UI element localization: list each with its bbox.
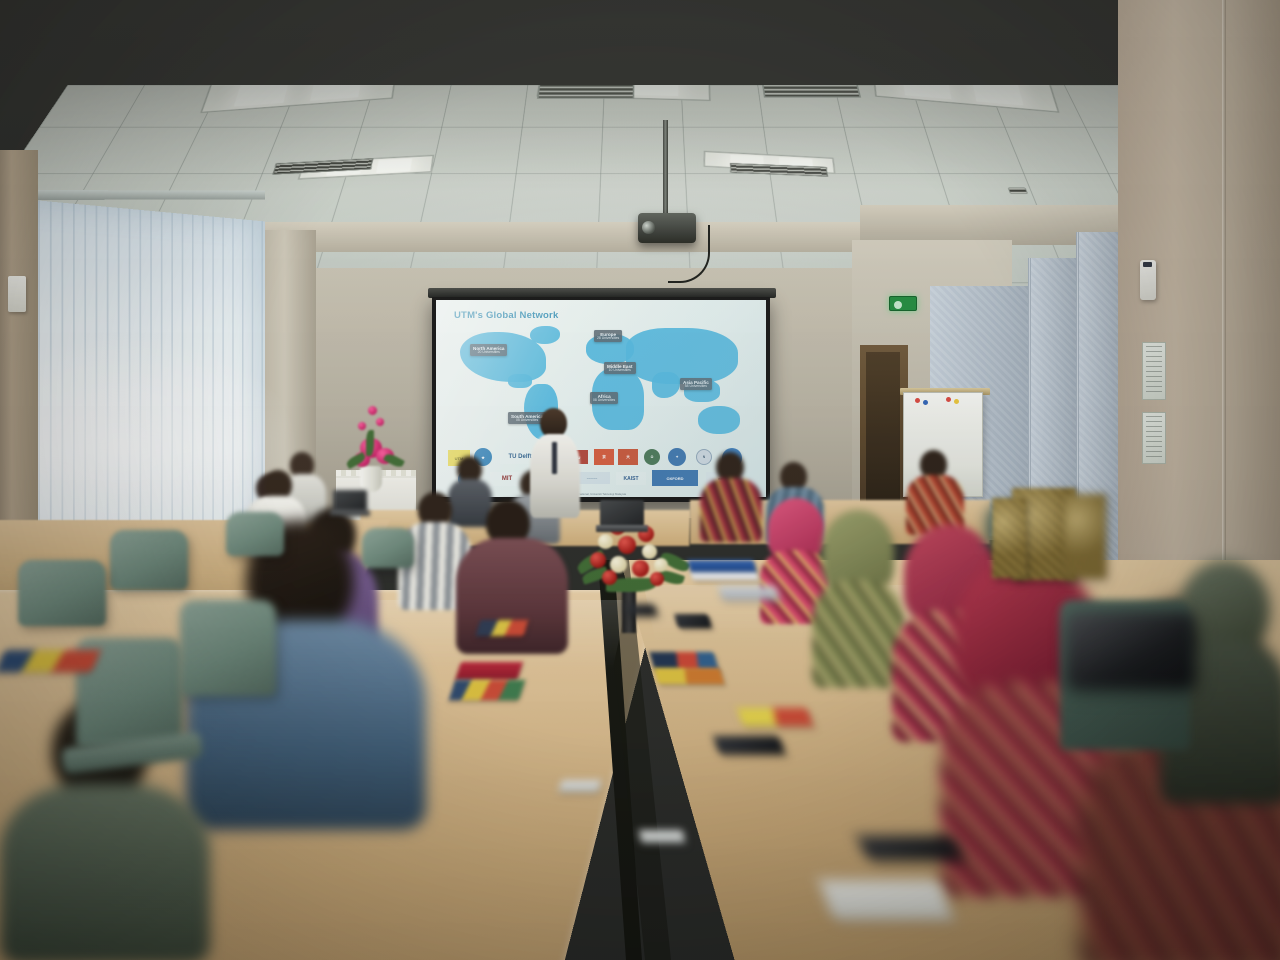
far-right-wall xyxy=(1118,0,1280,620)
brochure[interactable] xyxy=(718,586,779,600)
map-label-asia-pacific: Asia Pacific 58 Universities xyxy=(680,378,712,390)
chair[interactable] xyxy=(18,560,106,626)
partner-logo: 大 xyxy=(618,449,638,465)
partner-logo: Ω xyxy=(644,449,660,465)
gift-bag[interactable] xyxy=(992,498,1026,578)
blind-headrail xyxy=(0,190,265,200)
brochure[interactable] xyxy=(476,620,529,636)
name-card[interactable] xyxy=(639,830,685,843)
map-label-africa: Africa 08 Universities xyxy=(590,392,618,404)
partner-logo: OXFORD xyxy=(652,470,698,486)
doorway[interactable] xyxy=(866,352,900,522)
laptop[interactable] xyxy=(330,490,370,518)
mobile-phone[interactable] xyxy=(625,604,658,616)
pink-flower-arrangement xyxy=(346,404,404,474)
brochure[interactable] xyxy=(737,708,813,726)
brochure[interactable] xyxy=(0,650,100,672)
exit-sign xyxy=(889,296,917,311)
slide-title: UTM's Global Network xyxy=(454,310,558,321)
wall-edge xyxy=(1222,0,1226,620)
partner-logo: 京 xyxy=(594,449,614,465)
magnet-icon xyxy=(946,397,951,402)
attendee-hijab xyxy=(812,510,904,680)
partner-logo: ✦ xyxy=(668,448,686,466)
mobile-phone[interactable] xyxy=(674,614,712,628)
landmass-australia xyxy=(698,406,740,434)
map-label-middle-east: Middle East 10 Universities xyxy=(604,362,636,374)
attendee xyxy=(700,452,762,538)
booklet-stack[interactable] xyxy=(688,560,759,580)
wall-notice xyxy=(1142,412,1166,464)
projector-lens-icon xyxy=(642,221,655,234)
magnet-icon xyxy=(915,398,920,403)
wall-sensor xyxy=(1140,260,1156,300)
ceiling-soffit xyxy=(240,222,880,252)
attendee xyxy=(906,450,964,532)
light-switch[interactable] xyxy=(8,276,26,312)
brochure[interactable] xyxy=(449,680,525,700)
partner-logo: KAIST xyxy=(616,472,646,485)
projector-mount-pole xyxy=(663,120,668,215)
mobile-phone[interactable] xyxy=(713,736,785,754)
document[interactable] xyxy=(819,880,954,920)
chair[interactable] xyxy=(180,600,276,696)
mobile-phone[interactable] xyxy=(857,836,963,860)
brochure[interactable] xyxy=(455,662,523,680)
gift-bag[interactable] xyxy=(1064,494,1106,578)
landmass-greenland xyxy=(530,326,560,344)
brochure[interactable] xyxy=(654,668,725,684)
landmass-central-america xyxy=(508,374,532,388)
map-label-europe: Europe 28 Universities xyxy=(594,330,622,342)
camera-bag xyxy=(1066,612,1194,688)
chair[interactable] xyxy=(226,512,284,556)
laptop[interactable] xyxy=(596,500,648,534)
world-map-graphic: North America 20 Universities South Amer… xyxy=(446,326,762,446)
magnet-icon xyxy=(954,399,959,404)
wall-notice xyxy=(1142,342,1166,400)
chair[interactable] xyxy=(110,530,188,590)
landmass-asia xyxy=(626,328,738,384)
landmass-india xyxy=(652,372,680,398)
chair[interactable] xyxy=(362,528,414,568)
map-label-north-america: North America 20 Universities xyxy=(470,344,507,356)
ceiling-projector xyxy=(638,213,696,243)
magnet-icon xyxy=(923,400,928,405)
seminar-room-photo: UTM's Global Network North A xyxy=(0,0,1280,960)
name-card[interactable] xyxy=(559,780,601,792)
